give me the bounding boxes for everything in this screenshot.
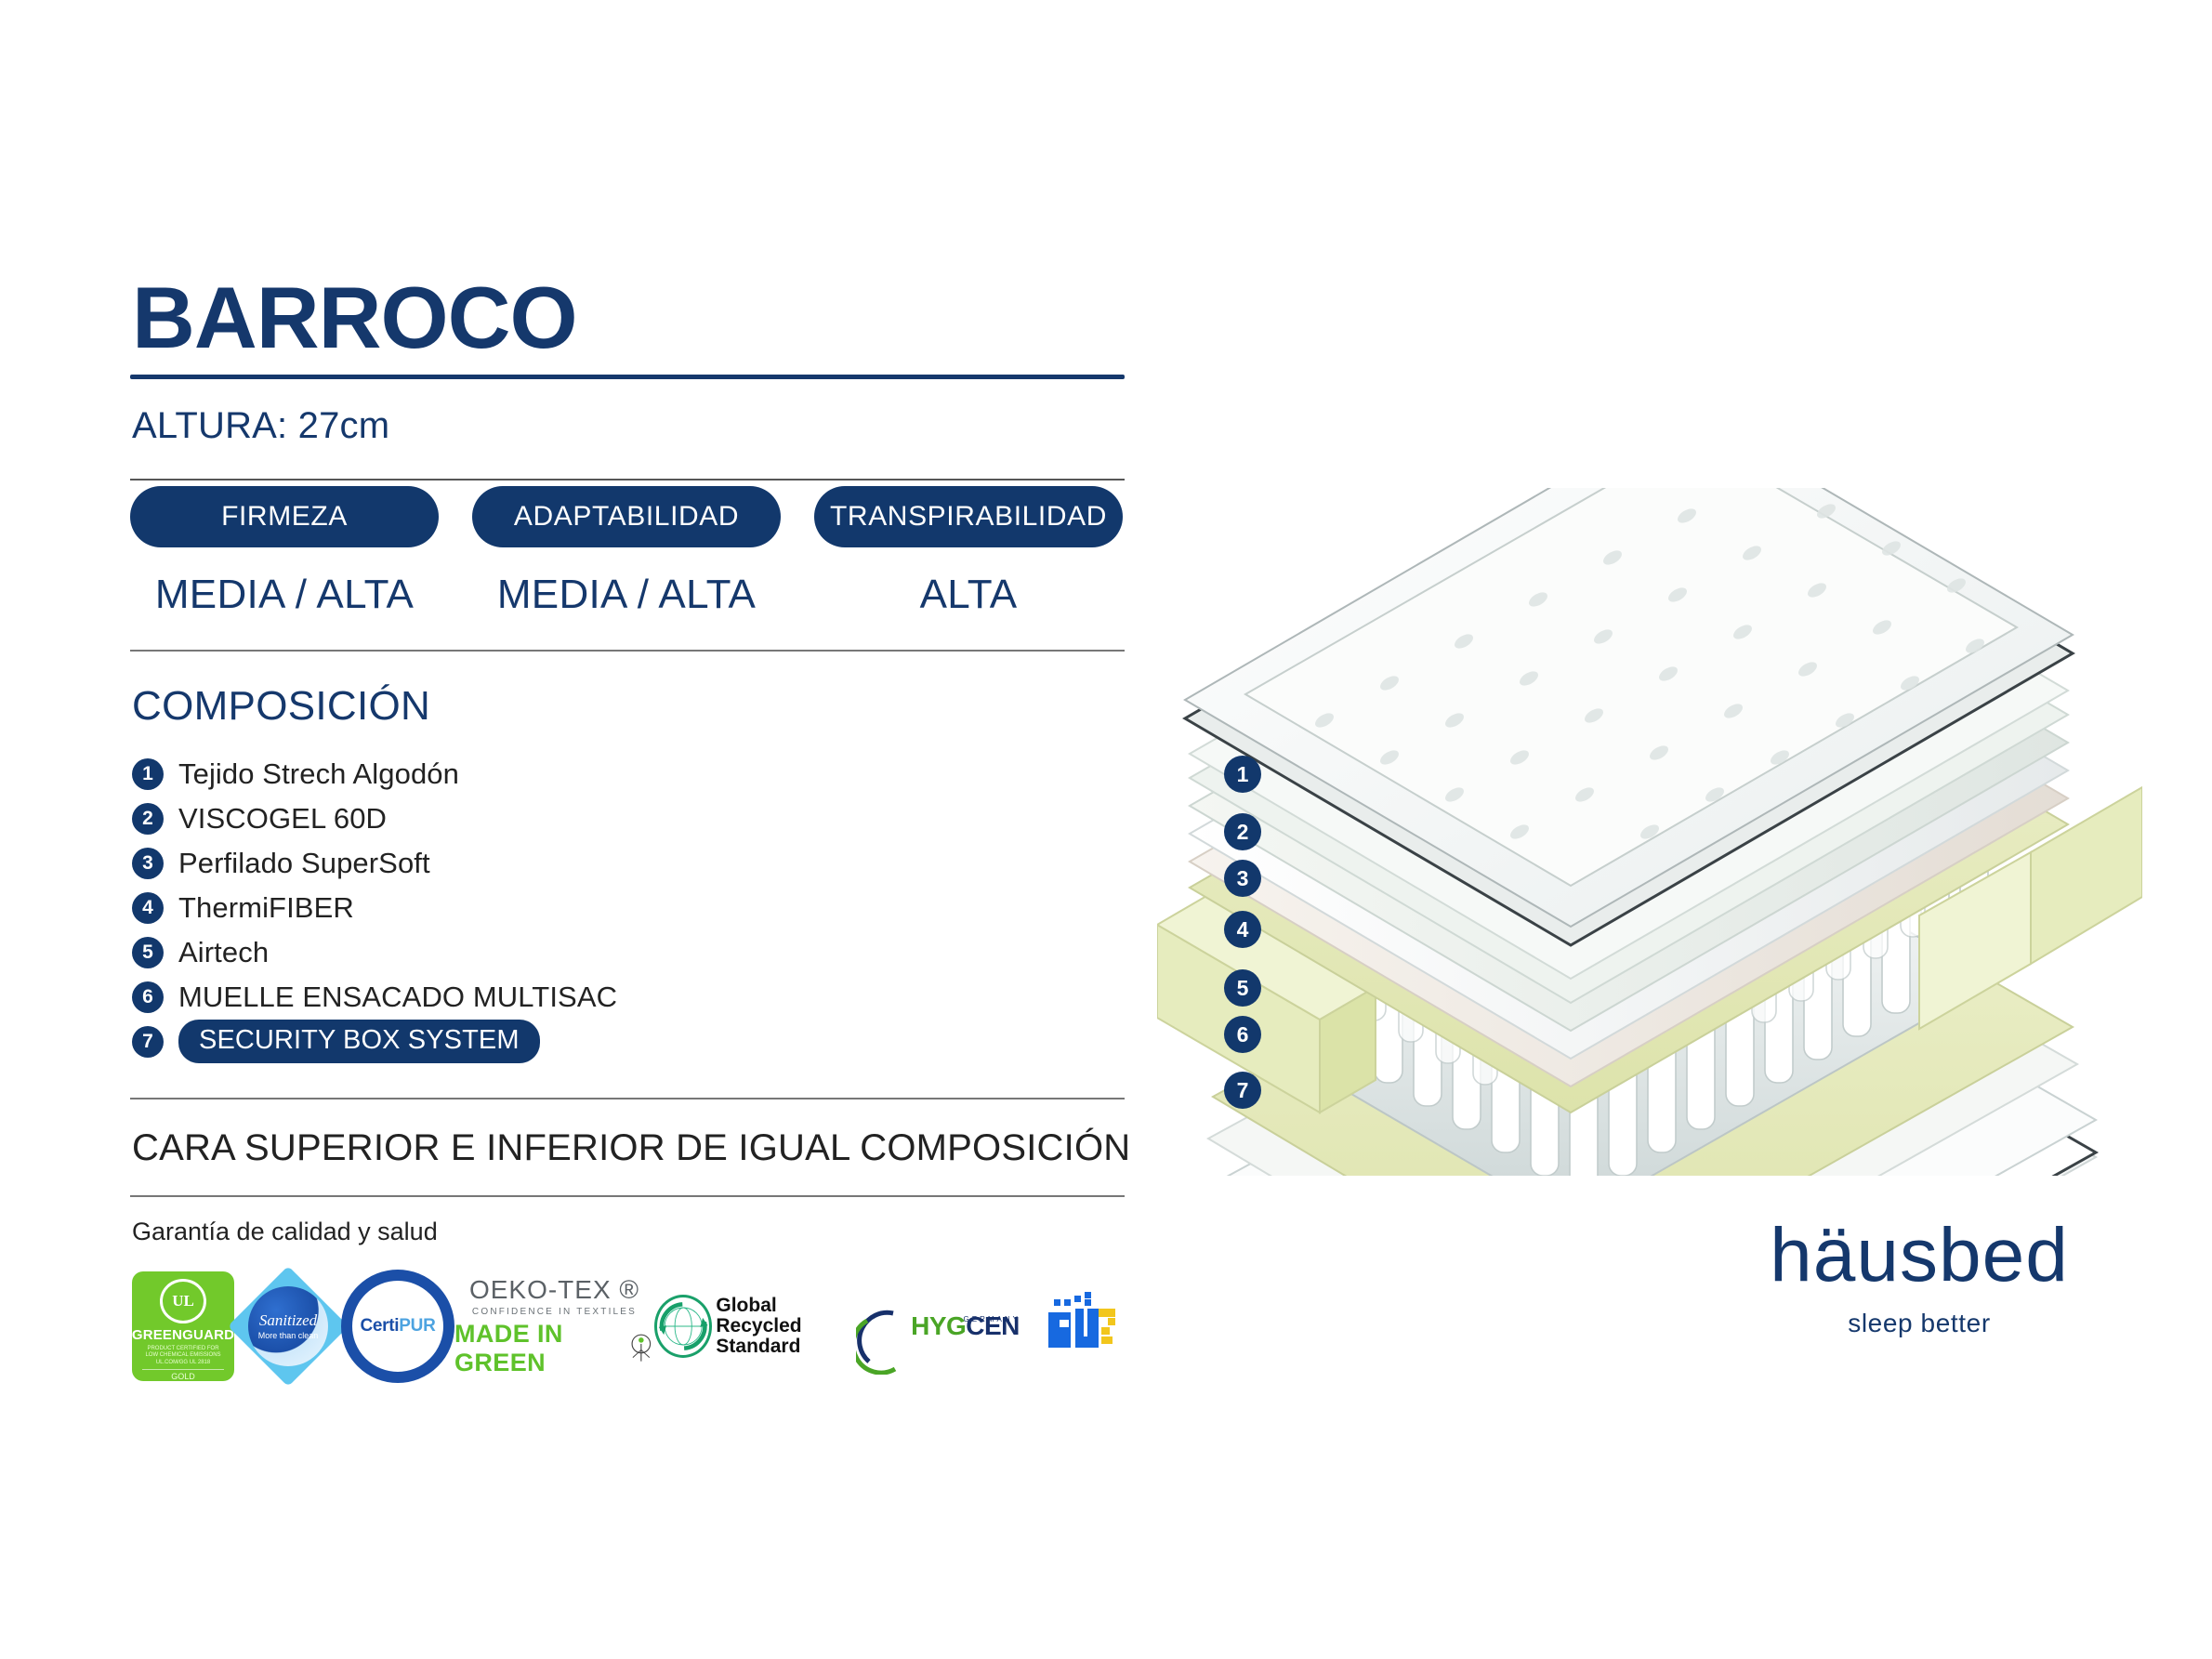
hygcen-logo: HYGCEN GERMANY [854, 1311, 1045, 1341]
layer-number-badge: 3 [132, 848, 164, 879]
oeko-tex-name: OEKO-TEX ® [469, 1275, 639, 1305]
sanitized-logo: Sanitized More than clean [234, 1267, 341, 1386]
brand-logo: häusbed sleep better [1743, 1218, 2096, 1338]
property-value: ALTA [920, 572, 1018, 618]
callout-6: 6 [1224, 1016, 1261, 1053]
greenguard-subtext: PRODUCT CERTIFIED FOR LOW CHEMICAL EMISS… [140, 1346, 226, 1367]
mattress-layer-diagram: 1 2 3 4 5 6 7 [1157, 488, 2142, 1176]
certipur-name: CertiPUR [360, 1316, 435, 1336]
property-label: FIRMEZA [221, 501, 348, 533]
eu-pixel-icon [1045, 1292, 1125, 1361]
composition-list: 1 Tejido Strech Algodón 2 VISCOGEL 60D 3… [132, 754, 1125, 1061]
height-divider [130, 479, 1125, 481]
property-transpirabilidad: TRANSPIRABILIDAD ALTA [814, 486, 1123, 618]
sanitized-tagline: More than clean [257, 1332, 318, 1341]
list-item: 2 VISCOGEL 60D [132, 798, 1125, 838]
layer-label: VISCOGEL 60D [178, 802, 387, 836]
property-label: ADAPTABILIDAD [514, 501, 739, 533]
tree-icon [628, 1330, 654, 1365]
grs-line2: Standard [716, 1336, 854, 1357]
layer-number-badge: 5 [132, 937, 164, 968]
property-pill-transpirabilidad[interactable]: TRANSPIRABILIDAD [814, 486, 1123, 547]
property-pill-adaptabilidad[interactable]: ADAPTABILIDAD [472, 486, 781, 547]
layer-label: Perfilado SuperSoft [178, 847, 430, 880]
greenguard-logo: UL GREENGUARD PRODUCT CERTIFIED FOR LOW … [132, 1271, 234, 1381]
layer-number-badge: 1 [132, 758, 164, 790]
list-item: 6 MUELLE ENSACADO MULTISAC [132, 977, 1125, 1017]
property-value: MEDIA / ALTA [155, 572, 414, 618]
layer-label: MUELLE ENSACADO MULTISAC [178, 981, 617, 1014]
property-label: TRANSPIRABILIDAD [830, 501, 1107, 533]
layer-label: Airtech [178, 936, 269, 969]
property-pill-firmeza[interactable]: FIRMEZA [130, 486, 439, 547]
callout-7: 7 [1224, 1072, 1261, 1109]
callout-2: 2 [1224, 813, 1261, 850]
certipur-logo: CertiPUR [341, 1270, 454, 1383]
page-title: BARROCO [132, 274, 1125, 362]
layer-number-badge: 6 [132, 981, 164, 1013]
callout-3: 3 [1224, 860, 1261, 897]
list-item: 1 Tejido Strech Algodón [132, 754, 1125, 794]
list-item-highlighted: 7 SECURITY BOX SYSTEM [132, 1021, 1125, 1061]
list-item: 4 ThermiFIBER [132, 888, 1125, 928]
layer-number-badge: 7 [132, 1026, 164, 1058]
certification-logos: UL GREENGUARD PRODUCT CERTIFIED FOR LOW … [132, 1267, 1125, 1386]
mattress-illustration [1157, 488, 2142, 1176]
callout-1: 1 [1224, 756, 1261, 793]
callout-4: 4 [1224, 911, 1261, 948]
brand-name: häusbed [1743, 1218, 2096, 1294]
faces-divider-bottom [130, 1195, 1125, 1197]
spec-panel: BARROCO ALTURA: 27cm FIRMEZA MEDIA / ALT… [130, 274, 1125, 1386]
property-value: MEDIA / ALTA [497, 572, 756, 618]
product-spec-sheet: BARROCO ALTURA: 27cm FIRMEZA MEDIA / ALT… [0, 0, 2212, 1659]
composition-heading: COMPOSICIÓN [132, 683, 1125, 730]
hygcen-country: GERMANY [964, 1315, 1020, 1323]
layer-number-badge: 2 [132, 803, 164, 835]
list-item: 3 Perfilado SuperSoft [132, 843, 1125, 883]
layer-number-badge: 4 [132, 892, 164, 924]
layer-label: Tejido Strech Algodón [178, 757, 459, 791]
property-adaptabilidad: ADAPTABILIDAD MEDIA / ALTA [472, 486, 781, 618]
property-row: FIRMEZA MEDIA / ALTA ADAPTABILIDAD MEDIA… [130, 486, 1125, 618]
faces-divider-top [130, 1098, 1125, 1099]
greenguard-name: GREENGUARD [132, 1327, 234, 1343]
title-divider [130, 375, 1125, 379]
brand-tagline: sleep better [1743, 1309, 2096, 1338]
warranty-note: Garantía de calidad y salud [132, 1218, 1125, 1246]
grs-line1: Global Recycled [716, 1296, 854, 1336]
greenguard-level: GOLD [142, 1369, 224, 1381]
list-item: 5 Airtech [132, 932, 1125, 972]
ul-icon: UL [160, 1279, 206, 1323]
oeko-tex-logo: OEKO-TEX ® CONFIDENCE IN TEXTILES MADE I… [454, 1275, 654, 1377]
hygcen-part1: HYG [911, 1311, 966, 1341]
both-faces-note: CARA SUPERIOR E INFERIOR DE IGUAL COMPOS… [132, 1127, 1125, 1169]
global-recycled-standard-logo: Global Recycled Standard [654, 1295, 854, 1358]
eu-pixel-logo [1045, 1292, 1125, 1361]
height-label: ALTURA: 27cm [132, 405, 1125, 447]
oeko-tex-subtitle: CONFIDENCE IN TEXTILES [472, 1307, 637, 1317]
layer-label-badge: SECURITY BOX SYSTEM [178, 1020, 540, 1063]
layer-label: ThermiFIBER [178, 891, 354, 925]
composition-divider-top [130, 650, 1125, 652]
oeko-tex-made-in-green: MADE IN GREEN [454, 1320, 623, 1377]
property-firmeza: FIRMEZA MEDIA / ALTA [130, 486, 439, 618]
recycle-globe-icon [654, 1295, 712, 1358]
callout-5: 5 [1224, 969, 1261, 1007]
sanitized-name: Sanitized [258, 1312, 316, 1328]
